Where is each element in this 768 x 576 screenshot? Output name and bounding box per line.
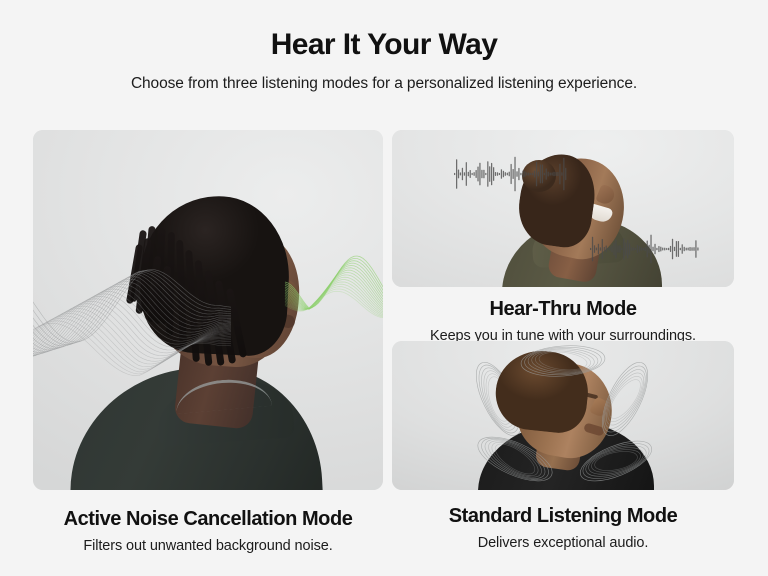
page-header: Hear It Your Way Choose from three liste…: [0, 0, 768, 93]
anc-caption: Active Noise Cancellation Mode Filters o…: [33, 508, 383, 554]
hear-thru-caption: Hear-Thru Mode Keeps you in tune with yo…: [392, 298, 734, 344]
standard-mode-description: Delivers exceptional audio.: [392, 535, 734, 551]
hear-thru-subject-hair-bun: [522, 160, 556, 192]
hear-thru-photo: [392, 130, 734, 287]
hear-thru-mode-title: Hear-Thru Mode: [392, 298, 734, 321]
standard-mode-title: Standard Listening Mode: [392, 505, 734, 528]
hear-it-your-way-page: Hear It Your Way Choose from three liste…: [0, 0, 768, 576]
anc-mode-title: Active Noise Cancellation Mode: [33, 508, 383, 531]
anc-photo: [33, 130, 383, 490]
anc-mode-description: Filters out unwanted background noise.: [33, 538, 383, 554]
mode-card-standard-listening[interactable]: Standard Listening Mode Delivers excepti…: [392, 341, 734, 551]
page-title: Hear It Your Way: [0, 28, 768, 61]
page-subtitle: Choose from three listening modes for a …: [0, 75, 768, 93]
mode-card-active-noise-cancellation[interactable]: Active Noise Cancellation Mode Filters o…: [33, 130, 383, 554]
anc-subject-locs: [129, 226, 279, 416]
standard-caption: Standard Listening Mode Delivers excepti…: [392, 505, 734, 551]
standard-photo: [392, 341, 734, 490]
mode-card-hear-thru[interactable]: Hear-Thru Mode Keeps you in tune with yo…: [392, 130, 734, 344]
